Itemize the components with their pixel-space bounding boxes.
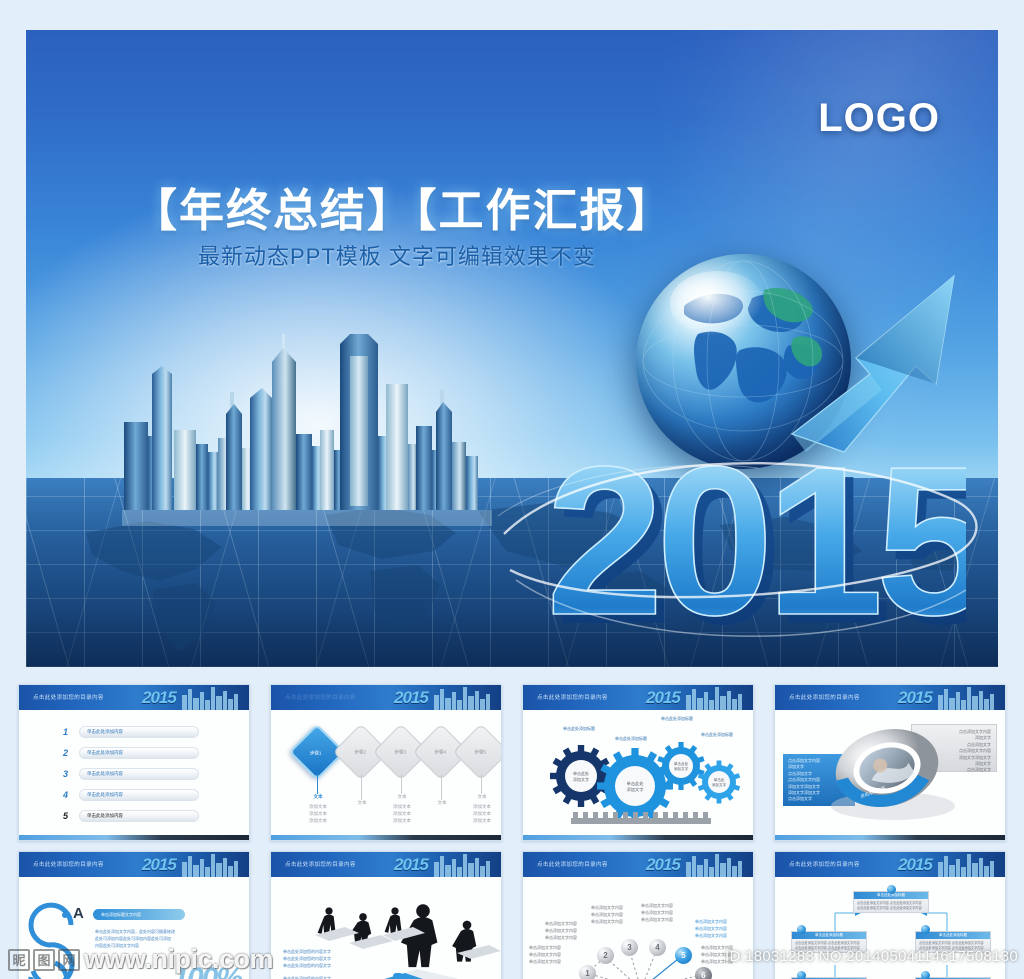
title-pill: 单击添加标题文字内容 [93, 909, 185, 920]
svg-text:2015: 2015 [546, 422, 966, 659]
thumb8-body: 单击此处添加标题 点击此处添加文字内容 点击此处添加文字内容 点击此处添加文字内… [775, 877, 1005, 979]
thumb3-header-text: 点击此处添加您的目录内容 [537, 693, 608, 701]
list-text: 单击此处添加内容 [87, 729, 123, 735]
node-body: 点击此处添加文字内容 点击此处添加文字内容 点击此处添加文字内容 点击此处添加文… [792, 939, 866, 953]
thumb7-skyline-icon [684, 852, 753, 877]
list-text: 单击此处添加内容 [87, 750, 123, 756]
step-stem-3 [401, 774, 402, 794]
thumb4-footer [775, 835, 1005, 840]
step-label-5: 步骤5 [461, 733, 499, 773]
thumb8-header-text: 点击此处添加您的目录内容 [789, 860, 860, 868]
node-num-5: 5 [681, 951, 685, 960]
node-body: 点击此处添加文字内容 点击此处添加文字内容 点击此处添加文字内容 点击此处添加文… [916, 939, 990, 953]
thumb3-header: 点击此处添加您的目录内容 2015 [523, 685, 753, 710]
thumbnail-slide-7[interactable]: 点击此处添加您的目录内容 2015 [522, 851, 754, 979]
step-stem-5 [481, 774, 482, 794]
step-caption-3: 文本 [385, 794, 419, 801]
list-text: 单击此处添加内容 [87, 813, 123, 819]
node-circle-2: 2 [597, 947, 614, 964]
thumb2-skyline-icon [432, 685, 501, 710]
thumb8-skyline-icon [936, 852, 1005, 877]
step-stem-1 [317, 774, 318, 794]
thumbnail-slide-8[interactable]: 点击此处添加您的目录内容 2015 [774, 851, 1006, 979]
list-bar: 单击此处添加内容 [79, 747, 199, 759]
thumb4-header: 点击此处添加您的目录内容 2015 [775, 685, 1005, 710]
thumb1-skyline-icon [180, 685, 249, 710]
list-text: 单击此处添加内容 [87, 771, 123, 777]
thumb7-header-text: 点击此处添加您的目录内容 [537, 860, 608, 868]
node-circle-1: 1 [579, 965, 596, 979]
city-skyline [122, 326, 492, 526]
page-title: 【年终总结】【工作汇报】 [132, 174, 674, 239]
svg-text:添加文字: 添加文字 [712, 782, 727, 787]
list-bar: 单击此处添加内容 [79, 768, 199, 780]
thumb2-header-text: 点击此处添加您的目录内容 [285, 693, 356, 701]
svg-text:单击此处: 单击此处 [573, 770, 589, 776]
thumbnail-slide-6[interactable]: 点击此处添加您的目录内容 2015 [270, 851, 502, 979]
list-number: 5 [63, 811, 73, 821]
thumb6-badge-year: 2015 [394, 855, 428, 875]
thumbnail-slide-3[interactable]: 点击此处添加您的目录内容 2015 [522, 684, 754, 841]
gear-label-1: 单击此处添加标题 [563, 726, 595, 733]
node-circle-5: 5 [675, 947, 692, 964]
thumbnail-slide-1[interactable]: 点击此处添加您的目录内容 2015 [18, 684, 250, 841]
node-num-4: 4 [655, 943, 659, 952]
svg-text:单击此: 单击此 [714, 777, 725, 782]
pin-icon-right-2 [921, 971, 930, 979]
thumb2-badge-year: 2015 [394, 688, 428, 708]
thumb7-year-badge: 2015 [644, 852, 749, 877]
list-text: 单击此处添加内容 [87, 792, 123, 798]
step-diamond-5[interactable]: 步骤5 [453, 724, 502, 781]
step-body-3: 添加文本 添加文本 添加文本 [383, 804, 421, 824]
step-caption-5: 文本 [465, 794, 499, 801]
thumb1-header-text: 点击此处添加您的目录内容 [33, 693, 104, 701]
step-label-2: 步骤2 [341, 733, 379, 773]
pin-icon-left-2 [797, 971, 806, 979]
thumb4-skyline-icon [936, 685, 1005, 710]
list-bar: 单击此处添加内容 [79, 726, 199, 738]
node-circle-6: 6 [695, 967, 712, 979]
year-2015-graphic: 2015 2015 [546, 400, 966, 667]
thumb2-header: 点击此处添加您的目录内容 2015 [271, 685, 501, 710]
node-text-2: 单击添加文字内容 单击添加文字内容 单击添加文字内容 [545, 921, 591, 941]
page-root: 2015 2015 LOGO 【年终总结】【工作汇报】 最新动态PPT模板 文字… [0, 0, 1024, 979]
body-text: 单击此处添加您的内容文字 单击此处添加您的内容文字 单击此处添加您的内容文字 单… [283, 949, 369, 979]
svg-text:单击此处: 单击此处 [627, 780, 645, 787]
thumb1-body: 1 单击此处添加内容 2 单击此处添加内容 3 单击此处添加内容 4 单击此处添… [19, 710, 249, 835]
thumb3-year-badge: 2015 [644, 685, 749, 710]
percent-value: 100% [172, 962, 241, 979]
org-node-root[interactable]: 单击此处添加标题 点击此处添加文字内容 点击此处添加文字内容 点击此处添加文字内… [853, 891, 929, 913]
list-number: 1 [63, 727, 73, 737]
thumb8-header: 点击此处添加您的目录内容 2015 [775, 852, 1005, 877]
step-stem-4 [441, 774, 442, 800]
list-bar: 单击此处添加内容 [79, 789, 199, 801]
thumb7-badge-year: 2015 [646, 855, 680, 875]
thumb4-body: 点击添加文字内容 添加文字 点击添加文字 点击添加文字内容 添加文字添加文字 添… [775, 710, 1005, 835]
gear-label-2: 单击此处添加标题 [615, 736, 647, 743]
list-bar: 单击此处添加内容 [79, 810, 199, 822]
step-body-1: 添加文本 添加文本 添加文本 [299, 804, 337, 824]
thumbnail-slide-2[interactable]: 点击此处添加您的目录内容 2015 [270, 684, 502, 841]
thumb1-footer [19, 835, 249, 840]
step-caption-4: 文本 [425, 800, 459, 807]
svg-text:添加文字: 添加文字 [627, 786, 644, 793]
step-label-1: 步骤1 [298, 733, 334, 773]
node-text-6: 单击添加文字内容 单击添加文字内容 单击添加文字内容 [701, 945, 751, 965]
thumb1-header: 点击此处添加您的目录内容 2015 [19, 685, 249, 710]
svg-text:添加文字: 添加文字 [674, 766, 689, 771]
thumb6-year-badge: 2015 [392, 852, 497, 877]
thumb1-badge-year: 2015 [142, 688, 176, 708]
thumb2-body: 步骤1 步骤2 步骤3 步骤4 步骤5 文本 [271, 710, 501, 835]
thumb5-header-text: 点击此处添加您的目录内容 [33, 860, 104, 868]
pin-icon-left [797, 925, 806, 934]
list-item[interactable]: 4 单击此处添加内容 [63, 789, 199, 801]
step-stem-2 [361, 774, 362, 800]
list-number: 2 [63, 748, 73, 758]
svg-text:添加文字: 添加文字 [573, 776, 589, 782]
thumb8-badge-year: 2015 [898, 855, 932, 875]
thumb3-footer [523, 835, 753, 840]
thumb5-badge-year: 2015 [142, 855, 176, 875]
node-num-1: 1 [585, 969, 589, 978]
thumb1-year-badge: 2015 [140, 685, 245, 710]
step-label-3: 步骤3 [381, 733, 419, 773]
thumb3-skyline-icon [684, 685, 753, 710]
globe-specular-highlight [670, 271, 765, 336]
letter-a: A [73, 905, 84, 922]
gear-label-4: 单击此处添加标题 [701, 732, 733, 739]
node-text-3: 单击添加文字内容 单击添加文字内容 单击添加文字内容 [591, 905, 637, 925]
list-item[interactable]: 2 单击此处添加内容 [63, 747, 199, 759]
list-item[interactable]: 3 单击此处添加内容 [63, 768, 199, 780]
thumb4-header-text: 点击此处添加您的目录内容 [789, 693, 860, 701]
thumb6-skyline-icon [432, 852, 501, 877]
thumb7-header: 点击此处添加您的目录内容 2015 [523, 852, 753, 877]
list-number: 3 [63, 769, 73, 779]
node-num-3: 3 [627, 943, 631, 952]
logo-text: LOGO [818, 96, 940, 141]
node-text-1: 单击添加文字内容 单击添加文字内容 单击添加文字内容 [529, 945, 575, 965]
step-caption-2: 文本 [345, 800, 379, 807]
gears-diagram: 单击此处 添加文字 [523, 710, 754, 835]
thumb8-year-badge: 2015 [896, 852, 1001, 877]
circle-photo-graphic: 点击添加文字 [775, 710, 1006, 835]
node-body: 点击此处添加文字内容 点击此处添加文字内容 点击此处添加文字内容 点击此处添加文… [854, 899, 928, 913]
node-num-2: 2 [603, 951, 607, 960]
node-text-4: 单击添加文字内容 单击添加文字内容 单击添加文字内容 [641, 903, 687, 923]
gear-1: 单击此处 添加文字 [550, 745, 612, 807]
pin-icon-right [921, 925, 930, 934]
thumbnail-slide-5[interactable]: 点击此处添加您的目录内容 2015 [18, 851, 250, 979]
thumb6-body: 单击此处添加您的内容文字 单击此处添加您的内容文字 单击此处添加您的内容文字 单… [271, 877, 501, 979]
list-item[interactable]: 5 单击此处添加内容 [63, 810, 199, 822]
list-number: 4 [63, 790, 73, 800]
thumb5-year-badge: 2015 [140, 852, 245, 877]
gear-label-3: 单击此处添加标题 [661, 716, 693, 723]
thumb3-badge-year: 2015 [646, 688, 680, 708]
svg-text:单击此处: 单击此处 [674, 761, 689, 766]
gear-4: 单击此 添加文字 [698, 761, 740, 804]
thumb6-header: 点击此处添加您的目录内容 2015 [271, 852, 501, 877]
thumbnail-grid: 点击此处添加您的目录内容 2015 [0, 676, 1024, 979]
node-circle-3: 3 [621, 939, 638, 956]
thumb6-header-text: 点击此处添加您的目录内容 [285, 860, 356, 868]
list-item[interactable]: 1 单击此处添加内容 [63, 726, 199, 738]
thumb2-year-badge: 2015 [392, 685, 497, 710]
org-node-right[interactable]: 单击此处添加标题 点击此处添加文字内容 点击此处添加文字内容 点击此处添加文字内… [915, 931, 991, 953]
thumb5-skyline-icon [180, 852, 249, 877]
step-body-5: 添加文本 添加文本 添加文本 [463, 804, 501, 824]
step-caption-1: 文本 [301, 794, 335, 801]
thumb4-year-badge: 2015 [896, 685, 1001, 710]
thumb2-footer [271, 835, 501, 840]
node-circle-4: 4 [649, 939, 666, 956]
org-node-left[interactable]: 单击此处添加标题 点击此处添加文字内容 点击此处添加文字内容 点击此处添加文字内… [791, 931, 867, 953]
thumb5-header: 点击此处添加您的目录内容 2015 [19, 852, 249, 877]
page-subtitle: 最新动态PPT模板 文字可编辑效果不变 [198, 239, 596, 271]
node-text-5: 单击添加文字内容 单击添加文字内容 单击添加文字内容 [695, 919, 745, 939]
step-label-4: 步骤4 [421, 733, 459, 773]
thumbnail-slide-4[interactable]: 点击此处添加您的目录内容 2015 点击添加文字内容 [774, 684, 1006, 841]
node-num-6: 6 [701, 971, 705, 979]
thumb4-badge-year: 2015 [898, 688, 932, 708]
thumb5-body: A 单击添加标题文字内容 单击此处添加文字内容，此处内容可随意修改 此处可添加内… [19, 877, 249, 979]
thumb7-body: 1 2 3 4 5 6 单击此处添加标题文字 单击添加文字内容 单击添加文字内容… [523, 877, 753, 979]
thumb3-body: 单击此处 添加文字 [523, 710, 753, 835]
body-text: 单击此处添加文字内容，此处内容可随意修改 此处可添加内容此处可添加内容此处可添加… [95, 929, 193, 949]
hero-slide: 2015 2015 LOGO 【年终总结】【工作汇报】 最新动态PPT模板 文字… [26, 30, 998, 667]
pin-icon-root [887, 885, 896, 894]
